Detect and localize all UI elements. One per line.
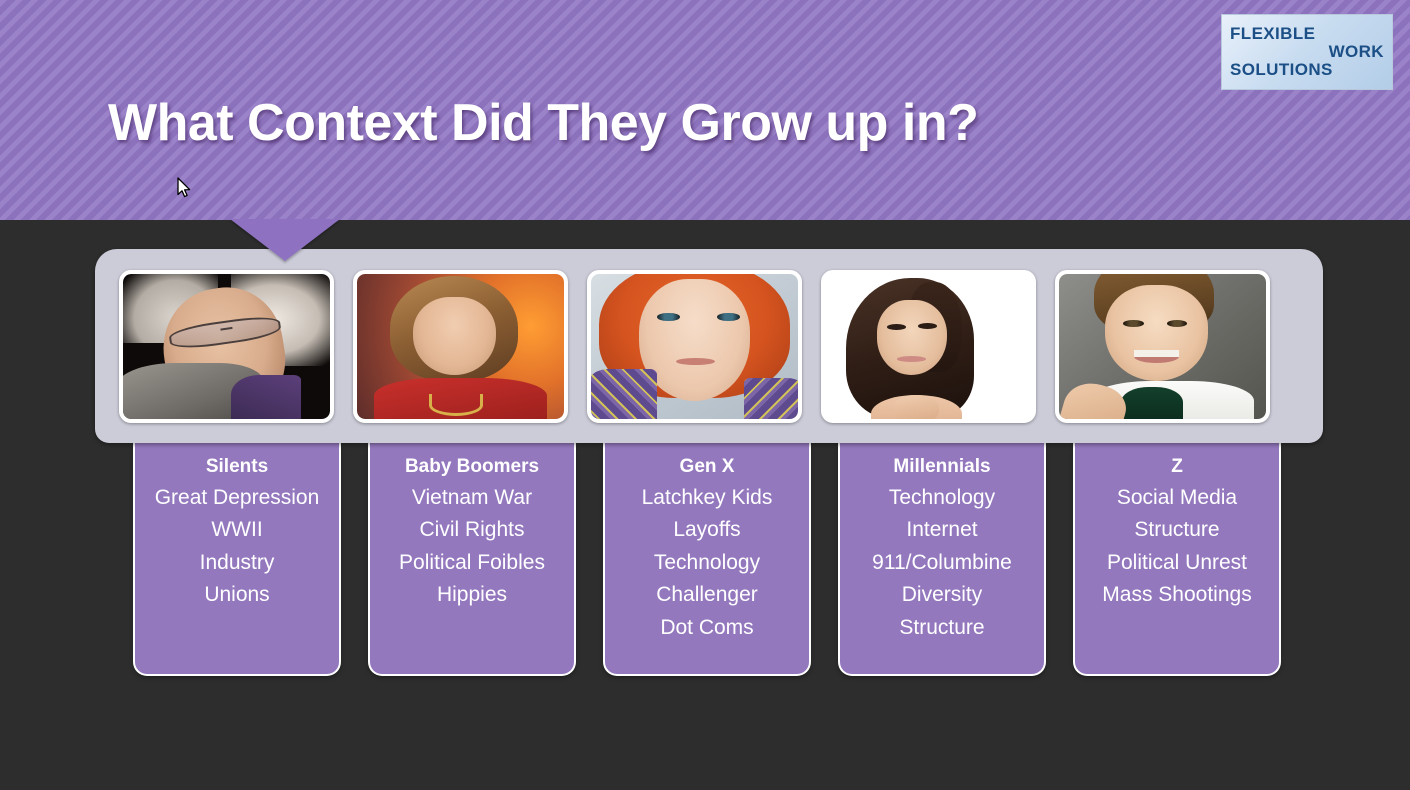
generation-card: Baby BoomersVietnam WarCivil RightsPolit…	[368, 443, 576, 676]
photo-gen-x	[587, 270, 802, 423]
generation-card: MillennialsTechnologyInternet911/Columbi…	[838, 443, 1046, 676]
photo-baby-boomers	[353, 270, 568, 423]
generation-item: Technology	[848, 482, 1036, 515]
presentation-slide: What Context Did They Grow up in? FLEXIB…	[0, 0, 1410, 790]
page-title: What Context Did They Grow up in?	[108, 93, 978, 153]
photo-millennials	[821, 270, 1036, 423]
logo-line-3: SOLUTIONS	[1230, 61, 1384, 79]
photo-gen-z	[1055, 270, 1270, 423]
generation-title: Gen X	[613, 454, 801, 480]
generation-item: Mass Shootings	[1083, 579, 1271, 612]
generation-card: SilentsGreat DepressionWWIIIndustryUnion…	[133, 443, 341, 676]
generation-item: Social Media	[1083, 482, 1271, 515]
generation-item: Political Unrest	[1083, 547, 1271, 580]
photo-millennials-image	[825, 274, 1032, 419]
generation-title: Z	[1083, 454, 1271, 480]
generation-item: Challenger	[613, 579, 801, 612]
generation-item: Layoffs	[613, 514, 801, 547]
photo-baby-boomers-image	[357, 274, 564, 419]
generation-title: Millennials	[848, 454, 1036, 480]
generation-item: Technology	[613, 547, 801, 580]
logo-line-2: WORK	[1230, 43, 1384, 61]
generation-item: WWII	[143, 514, 331, 547]
company-logo: FLEXIBLE WORK SOLUTIONS	[1221, 14, 1393, 90]
photo-strip	[95, 249, 1323, 443]
generation-item: Structure	[1083, 514, 1271, 547]
generation-item: Industry	[143, 547, 331, 580]
generation-item: Structure	[848, 612, 1036, 645]
logo-line-1: FLEXIBLE	[1230, 25, 1384, 43]
generation-title: Baby Boomers	[378, 454, 566, 480]
generation-item: Great Depression	[143, 482, 331, 515]
speech-bubble-tail-icon	[230, 219, 340, 261]
photo-gen-z-image	[1059, 274, 1266, 419]
photo-silents	[119, 270, 334, 423]
generation-item: Civil Rights	[378, 514, 566, 547]
generation-cards-row: SilentsGreat DepressionWWIIIndustryUnion…	[133, 443, 1281, 676]
photo-gen-x-image	[591, 274, 798, 419]
generation-card: ZSocial MediaStructurePolitical UnrestMa…	[1073, 443, 1281, 676]
generation-title: Silents	[143, 454, 331, 480]
generation-item: Vietnam War	[378, 482, 566, 515]
generation-item: Political Foibles	[378, 547, 566, 580]
generation-item: Diversity	[848, 579, 1036, 612]
generation-card: Gen XLatchkey KidsLayoffsTechnologyChall…	[603, 443, 811, 676]
generation-item: Dot Coms	[613, 612, 801, 645]
photo-silents-image	[123, 274, 330, 419]
generation-item: Hippies	[378, 579, 566, 612]
generation-item: Unions	[143, 579, 331, 612]
generation-item: Latchkey Kids	[613, 482, 801, 515]
generation-item: Internet	[848, 514, 1036, 547]
generation-item: 911/Columbine	[848, 547, 1036, 580]
